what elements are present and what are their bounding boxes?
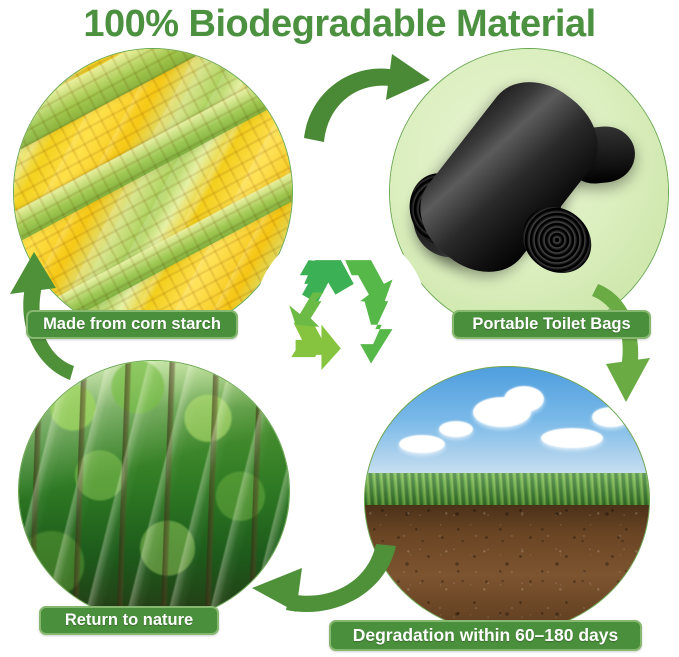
- biodegradable-material-infographic: 100% Biodegradable Material: [0, 0, 679, 657]
- cloud-shape: [504, 386, 544, 412]
- label-text: Degradation within 60–180 days: [353, 625, 619, 646]
- label-text: Return to nature: [65, 611, 193, 630]
- label-text: Portable Toilet Bags: [472, 315, 630, 334]
- label-made-from-corn-starch: Made from corn starch: [26, 310, 238, 339]
- curved-arrow-left-icon: [230, 540, 400, 630]
- label-degradation-days: Degradation within 60–180 days: [329, 620, 642, 651]
- recycle-icon: [289, 258, 397, 370]
- curved-arrow-down-icon: [592, 280, 678, 410]
- label-return-to-nature: Return to nature: [39, 606, 219, 635]
- label-portable-toilet-bags: Portable Toilet Bags: [452, 310, 651, 339]
- cloud-shape: [399, 435, 445, 453]
- cloud-shape: [541, 428, 603, 448]
- curved-arrow-right-icon: [300, 52, 460, 152]
- label-text: Made from corn starch: [43, 315, 221, 334]
- cloud-shape: [439, 421, 473, 437]
- soil-layer: [365, 505, 649, 633]
- page-title: 100% Biodegradable Material: [0, 2, 679, 46]
